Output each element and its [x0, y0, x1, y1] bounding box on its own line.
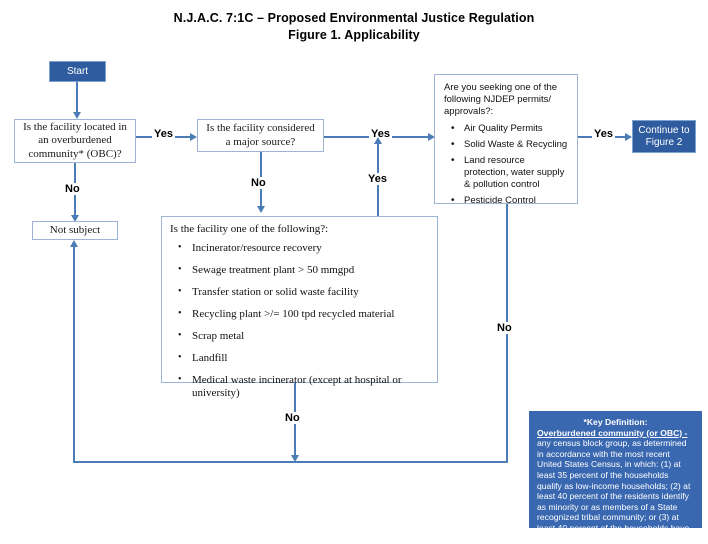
- key-definition-term: Overburdened community (or OBC) -: [537, 428, 687, 438]
- list-item: Medical waste incinerator (except at hos…: [192, 374, 429, 400]
- title-line-1: N.J.A.C. 7:1C – Proposed Environmental J…: [0, 10, 708, 27]
- flowchart-canvas: N.J.A.C. 7:1C – Proposed Environmental J…: [0, 0, 708, 539]
- edge-bottom-bus: [73, 461, 508, 463]
- arrowhead-start-to-obc: [73, 112, 81, 119]
- node-not-subject-label: Not subject: [50, 224, 100, 238]
- list-item: Transfer station or solid waste facility: [192, 286, 429, 299]
- node-obc-question[interactable]: Is the facility located in an overburden…: [14, 119, 136, 163]
- edge-start-to-obc: [76, 82, 78, 113]
- node-continue-to-figure-2[interactable]: Continue to Figure 2: [632, 120, 696, 153]
- node-major-source-label: Is the facility considered a major sourc…: [203, 122, 318, 149]
- title-line-2: Figure 1. Applicability: [0, 27, 708, 44]
- list-item: Pesticide Control: [464, 195, 569, 207]
- list-item: Air Quality Permits: [464, 123, 569, 135]
- edge-label-major-no: No: [249, 177, 268, 189]
- node-facility-list[interactable]: Is the facility one of the following?: I…: [161, 216, 438, 383]
- node-obc-question-label: Is the facility located in an overburden…: [19, 121, 131, 162]
- permits-items: Air Quality Permits Solid Waste & Recycl…: [444, 123, 569, 207]
- edge-label-obc-yes: Yes: [152, 128, 175, 140]
- list-item: Sewage treatment plant > 50 mmgpd: [192, 264, 429, 277]
- facility-list-lead: Is the facility one of the following?:: [170, 223, 429, 236]
- page-title: N.J.A.C. 7:1C – Proposed Environmental J…: [0, 10, 708, 44]
- edge-label-permits-yes: Yes: [592, 128, 615, 140]
- permits-lead: Are you seeking one of the following NJD…: [444, 82, 569, 118]
- list-item: Recycling plant >/= 100 tpd recycled mat…: [192, 308, 429, 321]
- node-major-source[interactable]: Is the facility considered a major sourc…: [197, 119, 324, 152]
- arrowhead-bus-to-not-subject: [70, 240, 78, 247]
- list-item: Scrap metal: [192, 330, 429, 343]
- arrowhead-obc-to-major: [190, 133, 197, 141]
- edge-bus-to-not-subject: [73, 247, 75, 463]
- node-continue-label: Continue to Figure 2: [633, 125, 695, 149]
- node-start[interactable]: Start: [49, 61, 106, 82]
- list-item: Incinerator/resource recovery: [192, 242, 429, 255]
- list-item: Landfill: [192, 352, 429, 365]
- list-item: Solid Waste & Recycling: [464, 139, 569, 151]
- arrowhead-major-to-list: [257, 206, 265, 213]
- list-item: Land resource protection, water supply &…: [464, 155, 569, 191]
- key-definition-heading: *Key Definition:: [537, 417, 694, 428]
- key-definition-box: *Key Definition: Overburdened community …: [529, 411, 702, 528]
- edge-label-list-no: No: [283, 412, 302, 424]
- edge-label-permits-no: No: [495, 322, 514, 334]
- node-start-label: Start: [67, 66, 88, 78]
- facility-list-items: Incinerator/resource recovery Sewage tre…: [170, 242, 429, 400]
- arrowhead-permits-to-continue: [625, 133, 632, 141]
- edge-label-obc-no: No: [63, 183, 82, 195]
- node-not-subject[interactable]: Not subject: [32, 221, 118, 240]
- key-definition-body: any census block group, as determined in…: [537, 438, 690, 543]
- arrowhead-list-to-permits: [374, 137, 382, 144]
- edge-label-list-yes: Yes: [366, 173, 389, 185]
- node-permits[interactable]: Are you seeking one of the following NJD…: [434, 74, 578, 204]
